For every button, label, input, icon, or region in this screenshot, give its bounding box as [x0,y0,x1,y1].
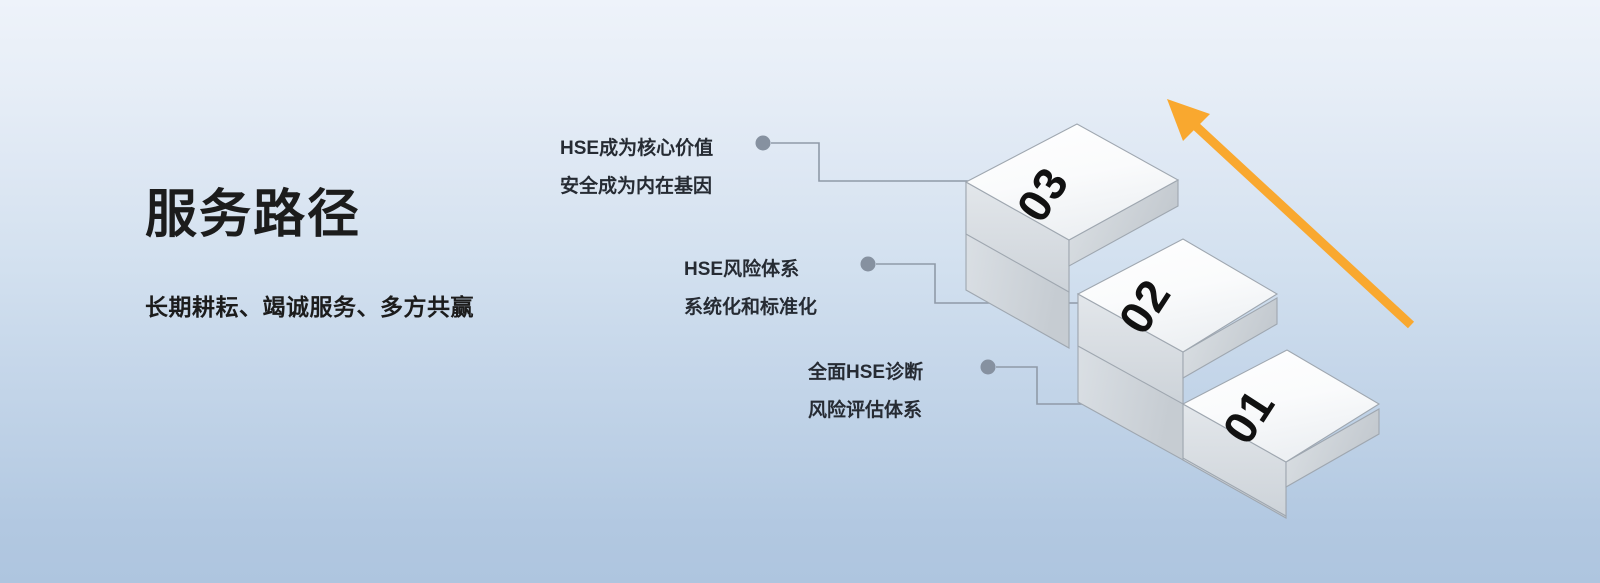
step-01-block: 01 [1183,350,1379,518]
connector-step-01-dot [981,360,996,375]
connector-step-03-dot [756,136,771,151]
isometric-staircase-diagram: 01 02 03 [0,0,1600,583]
connector-step-02-dot [861,257,876,272]
connector-step-03 [756,136,969,182]
connector-step-03-line [771,143,968,181]
slide-canvas: 服务路径 长期耕耘、竭诚服务、多方共赢 HSE成为核心价值 安全成为内在基因 H… [0,0,1600,583]
